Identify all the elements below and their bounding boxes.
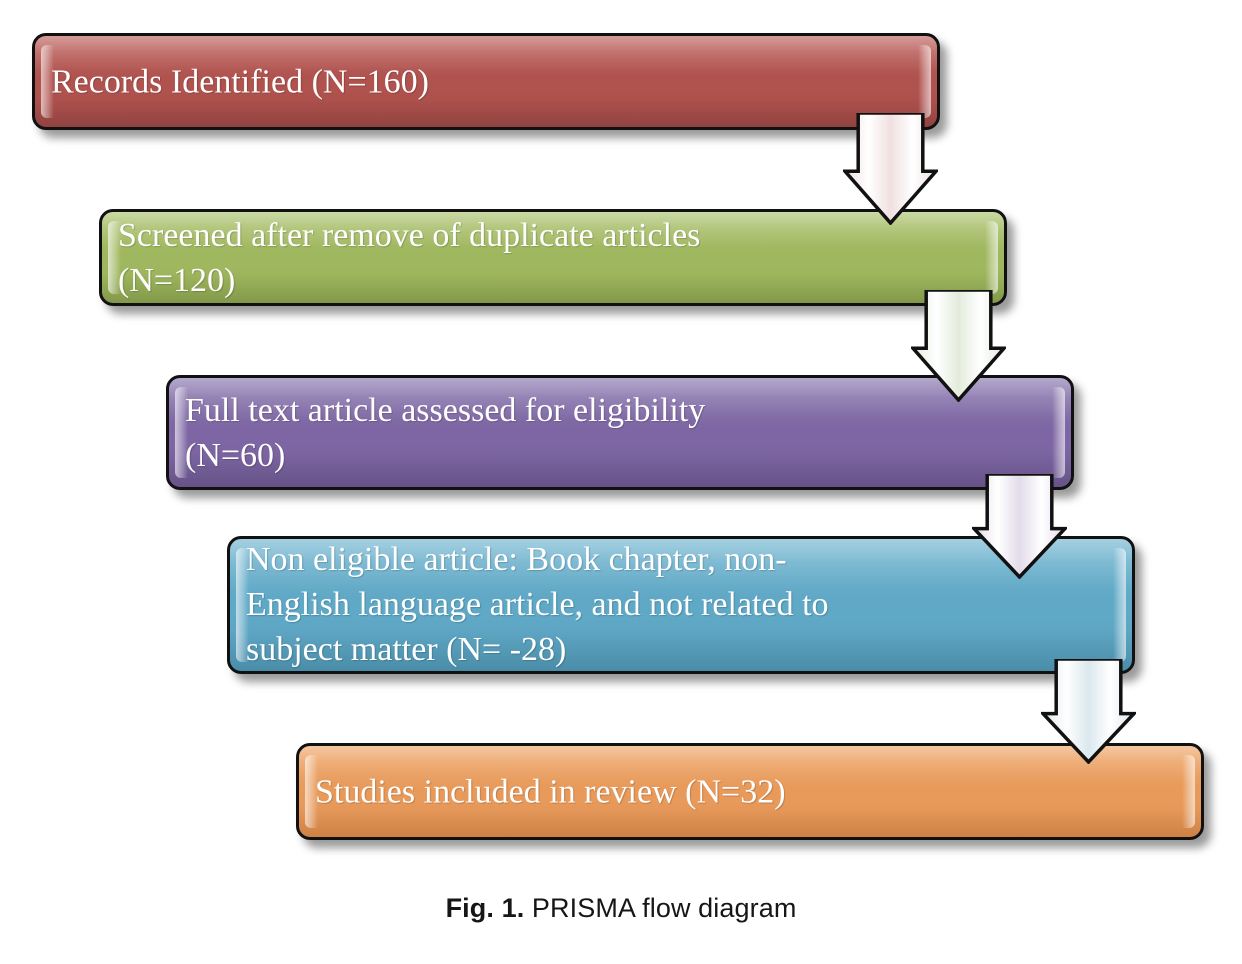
down-arrow-icon: [843, 113, 938, 225]
flow-node-label: Studies included in review (N=32): [315, 769, 1181, 814]
box-right-bevel: [1052, 387, 1065, 478]
flow-node-label: Records Identified (N=160): [51, 59, 917, 104]
flow-node-identified[interactable]: Records Identified (N=160): [32, 33, 940, 130]
figure-caption: Fig. 1. PRISMA flow diagram: [0, 893, 1242, 924]
box-right-bevel: [918, 45, 931, 118]
flow-node-label: Screened after remove of duplicate artic…: [118, 212, 984, 302]
box-right-bevel: [985, 221, 998, 294]
down-arrow-icon: [972, 474, 1067, 579]
box-right-bevel: [1182, 755, 1195, 828]
down-arrow-icon: [1041, 659, 1136, 764]
down-arrow-icon: [911, 290, 1006, 402]
figure-caption-label: Fig. 1.: [446, 893, 525, 923]
box-right-bevel: [1113, 548, 1126, 662]
figure-caption-text: PRISMA flow diagram: [524, 893, 796, 923]
prisma-flow-diagram: Records Identified (N=160) Screened afte…: [0, 0, 1242, 964]
